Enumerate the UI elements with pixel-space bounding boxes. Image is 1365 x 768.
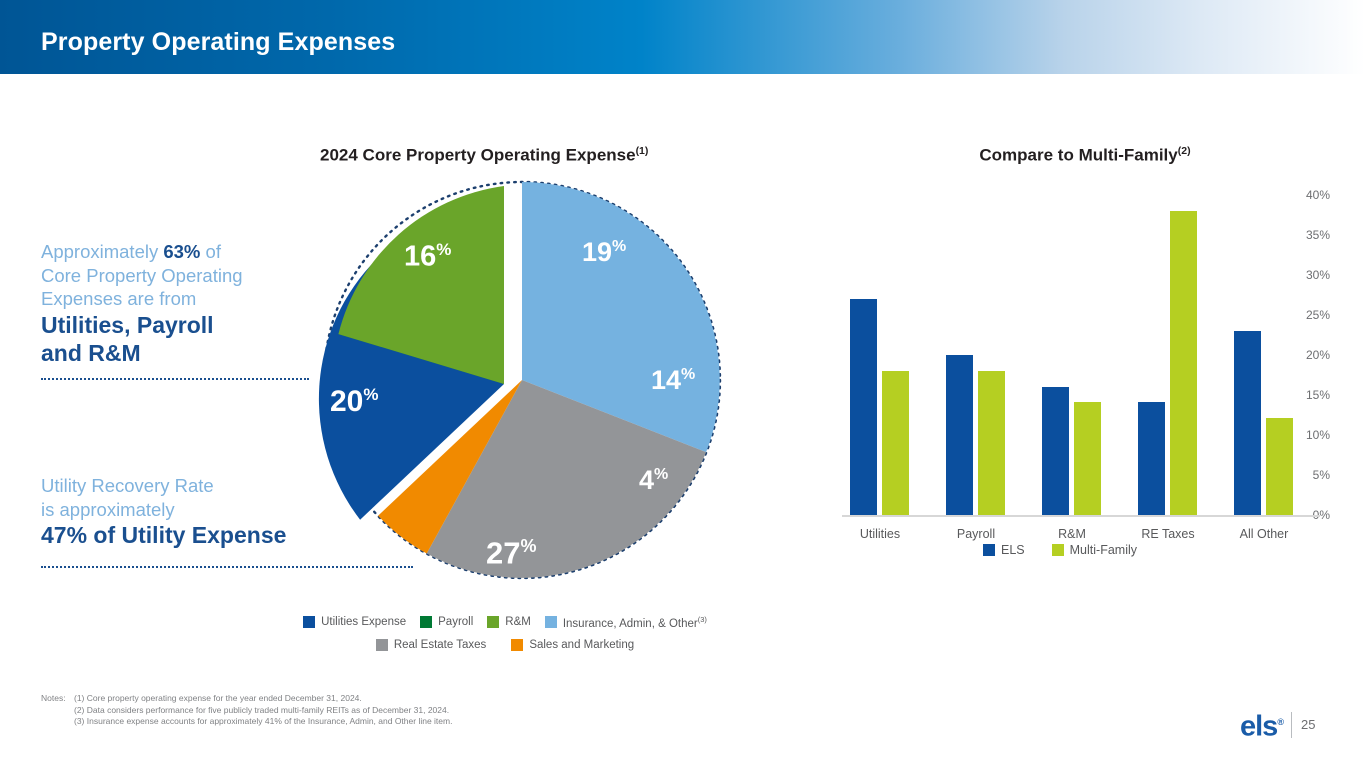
callout-63-bold-line-1: Utilities, Payroll [41, 311, 243, 339]
x-axis-label-re-taxes: RE Taxes [1113, 527, 1223, 541]
pie-label-real-estate-taxes: 14% [651, 361, 695, 394]
bar-legend-item-multi-family[interactable]: Multi-Family [1052, 543, 1137, 557]
pie-legend-label-insurance-text: Insurance, Admin, & Other [563, 618, 698, 630]
pie-label-sales-and-marketing: 4% [639, 461, 668, 494]
x-axis-baseline [842, 515, 1320, 517]
bar-els-rm[interactable] [1042, 387, 1069, 515]
pie-label-rm-unit: % [436, 240, 451, 259]
bar-multifamily-payroll[interactable] [978, 371, 1005, 515]
pie-legend-label-utilities-expense: Utilities Expense [321, 616, 406, 628]
callout-63-line-1: Approximately 63% of [41, 240, 243, 264]
bar-chart: 40% 35% 30% 25% 20% 15% 10% 5% 0% [790, 188, 1330, 518]
footer-logo-area: els® 25 [1240, 708, 1315, 742]
bar-group-all-other [1234, 195, 1294, 515]
pie-legend-label-real-estate-taxes: Real Estate Taxes [394, 639, 486, 651]
footer-divider [1291, 712, 1292, 738]
pie-legend-item-rm[interactable]: R&M [487, 616, 531, 628]
pie-label-payroll-unit: % [363, 385, 378, 404]
bar-group-re-taxes [1138, 195, 1198, 515]
bar-legend-row: ELS Multi-Family [790, 543, 1330, 557]
pie-chart-legend: Utilities Expense Payroll R&M Insurance,… [285, 615, 725, 651]
bar-chart-plot-area: Utilities Payroll R&M RE Taxes All Other [842, 195, 1322, 515]
bar-legend-label-els: ELS [1001, 543, 1025, 557]
pie-label-utilities-unit: % [520, 536, 536, 556]
x-axis-label-all-other: All Other [1209, 527, 1319, 541]
pie-label-insurance-admin-other: 19% [582, 233, 626, 266]
pie-chart-title: 2024 Core Property Operating Expense(1) [320, 145, 740, 166]
bar-chart-title-text: Compare to Multi-Family [979, 146, 1177, 165]
pie-legend-label-sales-and-marketing: Sales and Marketing [529, 639, 634, 651]
bar-els-all-other[interactable] [1234, 331, 1261, 515]
callout-47-bold-line: 47% of Utility Expense [41, 521, 286, 549]
pie-label-rm-value: 16 [404, 241, 436, 273]
pie-label-retaxes-unit: % [681, 366, 695, 383]
callout-63-line-2: Core Property Operating [41, 264, 243, 288]
pie-legend-swatch-utilities-expense [303, 616, 315, 628]
pie-legend-label-insurance-admin-other: Insurance, Admin, & Other(3) [563, 615, 707, 630]
bar-els-utilities[interactable] [850, 299, 877, 515]
pie-label-payroll: 20% [330, 380, 379, 417]
callout-63-prefix: Approximately [41, 241, 163, 262]
pie-legend-swatch-rm [487, 616, 499, 628]
bar-multifamily-rm[interactable] [1074, 402, 1101, 515]
callout-63-suffix: of [200, 241, 221, 262]
callout-47-line-1: Utility Recovery Rate [41, 474, 286, 498]
bar-els-re-taxes[interactable] [1138, 402, 1165, 515]
callout-63-line-3: Expenses are from [41, 287, 243, 311]
pie-legend-swatch-payroll [420, 616, 432, 628]
pie-legend-row-1: Utilities Expense Payroll R&M Insurance,… [285, 615, 725, 630]
callout-47-line-2: is approximately [41, 498, 286, 522]
footnote-3: (3) Insurance expense accounts for appro… [74, 716, 452, 728]
callout-63-bold-line-2: and R&M [41, 339, 243, 367]
bar-multifamily-re-taxes[interactable] [1170, 211, 1197, 515]
pie-chart-title-footnote-ref: (1) [636, 145, 649, 157]
pie-label-sales-unit: % [654, 466, 668, 483]
footnote-1: (1) Core property operating expense for … [74, 693, 452, 705]
bar-els-payroll[interactable] [946, 355, 973, 515]
pie-chart: 19% 14% 4% 27% 20% 16% [300, 178, 730, 588]
bar-legend-item-els[interactable]: ELS [983, 543, 1025, 557]
page-number: 25 [1301, 717, 1315, 732]
pie-label-utilities-expense: 27% [486, 531, 537, 568]
pie-label-insurance-value: 19 [582, 237, 612, 267]
bar-legend-label-multi-family: Multi-Family [1070, 543, 1137, 557]
pie-label-insurance-unit: % [612, 238, 626, 255]
callout-47-percent: Utility Recovery Rate is approximately 4… [41, 474, 286, 549]
pie-label-retaxes-value: 14 [651, 365, 681, 395]
footnote-2: (2) Data considers performance for five … [74, 705, 452, 717]
bar-legend-swatch-multi-family [1052, 544, 1064, 556]
els-logo-text: els [1240, 711, 1277, 743]
callout-63-percent: Approximately 63% of Core Property Opera… [41, 240, 243, 367]
pie-legend-label-insurance-footnote-ref: (3) [698, 615, 707, 624]
pie-legend-item-sales-and-marketing[interactable]: Sales and Marketing [511, 639, 634, 651]
page-title: Property Operating Expenses [41, 28, 395, 57]
pie-label-sales-value: 4 [639, 465, 654, 495]
x-axis-label-payroll: Payroll [921, 527, 1031, 541]
pie-legend-item-payroll[interactable]: Payroll [420, 616, 473, 628]
bar-chart-legend: ELS Multi-Family [790, 543, 1330, 557]
pie-legend-label-payroll: Payroll [438, 616, 473, 628]
bar-multifamily-utilities[interactable] [882, 371, 909, 515]
footnotes-list: (1) Core property operating expense for … [74, 693, 452, 728]
pie-chart-title-text: 2024 Core Property Operating Expense [320, 146, 636, 165]
pie-legend-item-real-estate-taxes[interactable]: Real Estate Taxes [376, 639, 486, 651]
pie-legend-row-2: Real Estate Taxes Sales and Marketing [285, 639, 725, 651]
pie-legend-item-insurance-admin-other[interactable]: Insurance, Admin, & Other(3) [545, 615, 707, 630]
bar-group-utilities [850, 195, 910, 515]
pie-label-utilities-value: 27 [486, 535, 520, 570]
pie-legend-label-rm: R&M [505, 616, 531, 628]
els-logo-registered-icon: ® [1277, 717, 1283, 727]
pie-legend-swatch-insurance-admin-other [545, 616, 557, 628]
bar-group-rm [1042, 195, 1102, 515]
bar-chart-title-footnote-ref: (2) [1178, 145, 1191, 157]
x-axis-label-rm: R&M [1017, 527, 1127, 541]
bar-multifamily-all-other[interactable] [1266, 418, 1293, 515]
bar-legend-swatch-els [983, 544, 995, 556]
callout-63-value: 63% [163, 241, 200, 262]
footnotes: Notes: (1) Core property operating expen… [41, 693, 452, 728]
x-axis-label-utilities: Utilities [825, 527, 935, 541]
pie-legend-swatch-real-estate-taxes [376, 639, 388, 651]
pie-label-rm: 16% [404, 235, 451, 272]
pie-label-payroll-value: 20 [330, 385, 363, 418]
bar-chart-title: Compare to Multi-Family(2) [905, 145, 1265, 166]
pie-legend-item-utilities-expense[interactable]: Utilities Expense [303, 616, 406, 628]
slide-header-banner: Property Operating Expenses [0, 0, 1365, 74]
pie-legend-swatch-sales-and-marketing [511, 639, 523, 651]
callout-63-underline [41, 378, 309, 380]
footnotes-label: Notes: [41, 693, 66, 705]
els-logo: els® [1240, 708, 1283, 742]
bar-group-payroll [946, 195, 1006, 515]
